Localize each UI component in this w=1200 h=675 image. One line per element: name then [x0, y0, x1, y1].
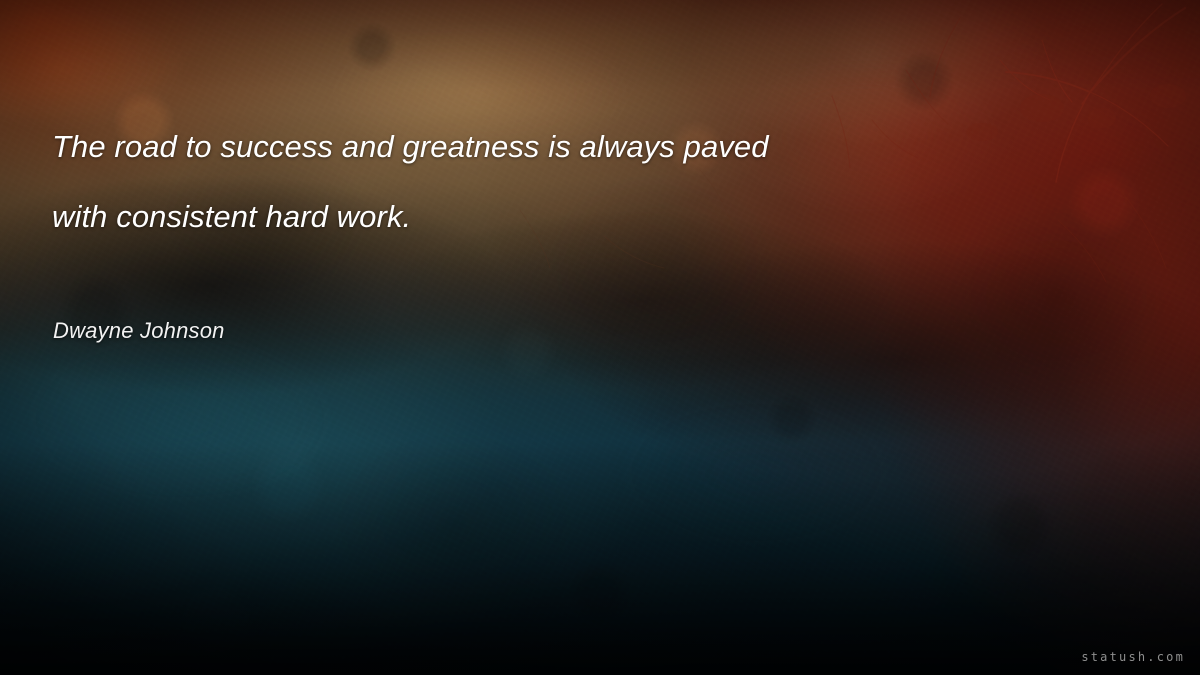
quote-author: Dwayne Johnson [53, 318, 225, 344]
quote-content: The road to success and greatness is alw… [0, 0, 1200, 675]
watermark-statush[interactable]: statush.com [1081, 650, 1185, 664]
quote-text: The road to success and greatness is alw… [52, 112, 952, 252]
quote-card: The road to success and greatness is alw… [0, 0, 1200, 675]
